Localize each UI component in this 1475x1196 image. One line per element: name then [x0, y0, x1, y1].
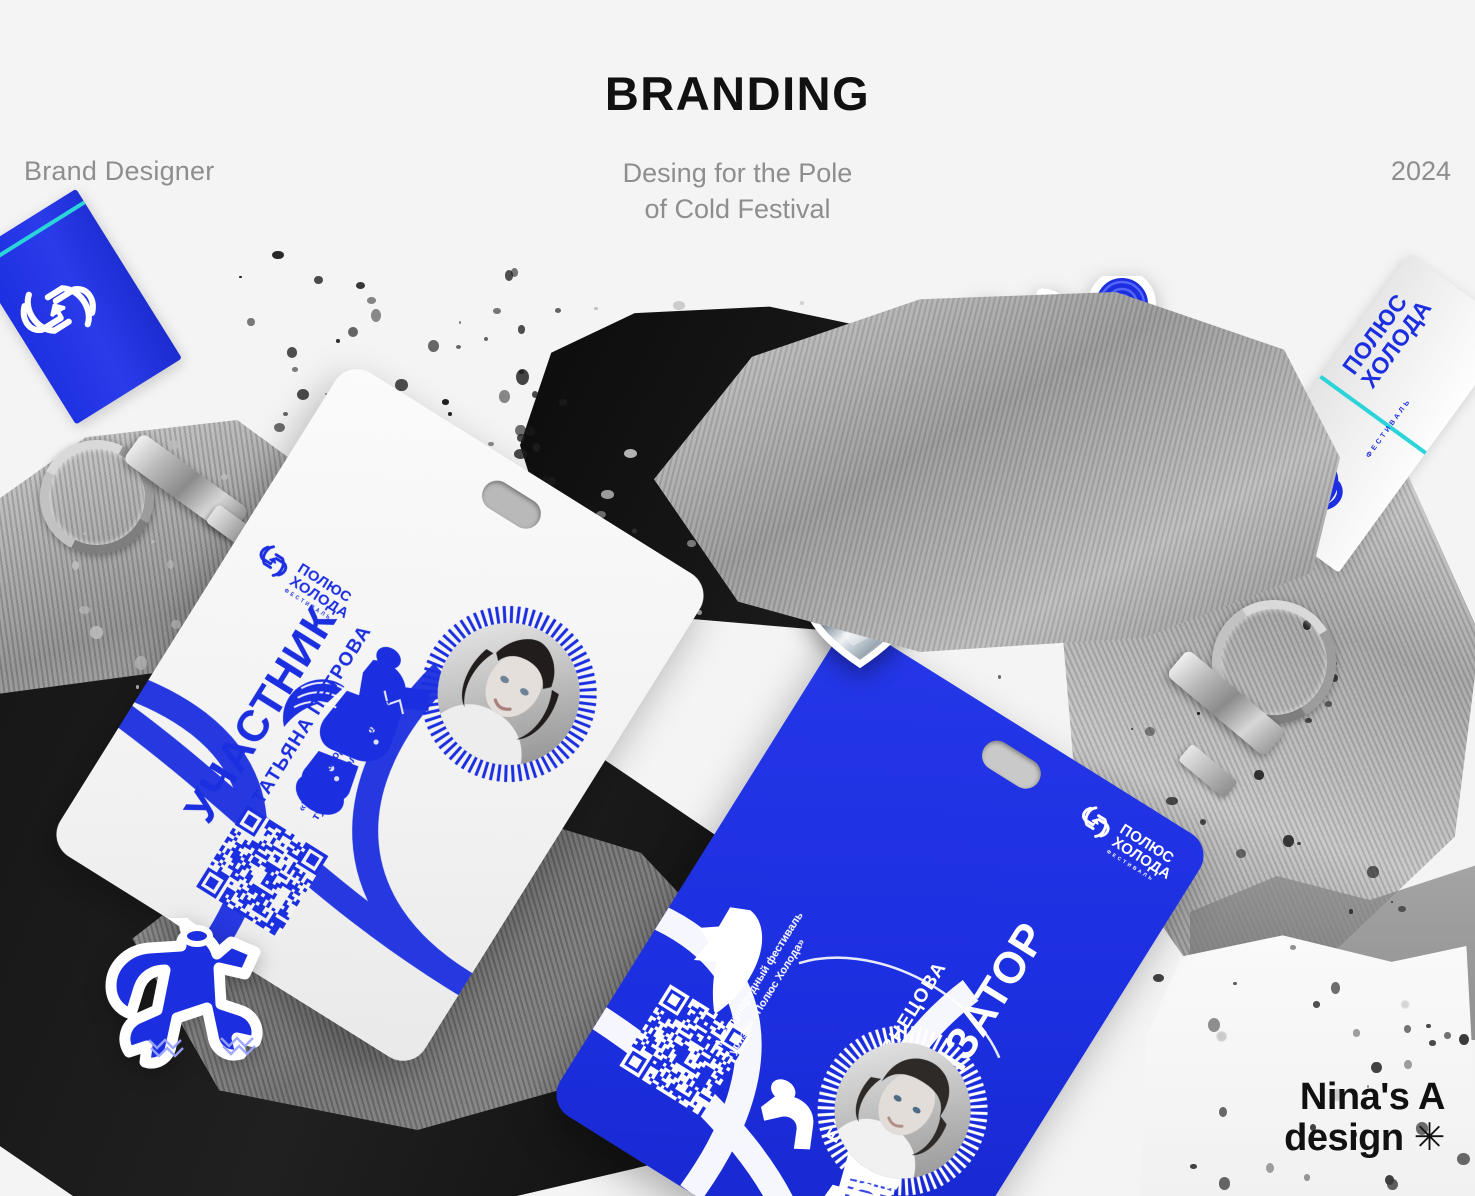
- signature-line-2: design: [1284, 1117, 1403, 1159]
- page-title: BRANDING: [0, 70, 1475, 117]
- badge-logo-mark-organizer: [1073, 800, 1118, 843]
- signature-asterisk-icon: ✳: [1414, 1117, 1445, 1159]
- badge-slot-participant: [476, 475, 546, 534]
- lanyard-wordmark-right: ПОЛЮС ХОЛОДА: [1339, 283, 1436, 392]
- subtitle-line-2: of Cold Festival: [644, 194, 830, 224]
- lanyard-festival-word-right: ФЕСТИВАЛЬ: [1365, 397, 1413, 459]
- sticker-figure-runner[interactable]: [105, 918, 295, 1088]
- subtitle-line-1: Desing for the Pole: [623, 158, 853, 188]
- year-label: 2024: [1391, 156, 1451, 187]
- designer-signature: Nina's A design ✳: [1284, 1077, 1445, 1158]
- badge-slot-organizer: [976, 735, 1046, 794]
- badge-logo-mark-participant: [251, 539, 296, 582]
- signature-line-1: Nina's A: [1300, 1076, 1445, 1118]
- lanyard-logo-mark-left: [7, 260, 110, 358]
- poster-canvas: BRANDING Brand Designer Desing for the P…: [0, 0, 1475, 1196]
- project-subtitle: Desing for the Pole of Cold Festival: [0, 156, 1475, 227]
